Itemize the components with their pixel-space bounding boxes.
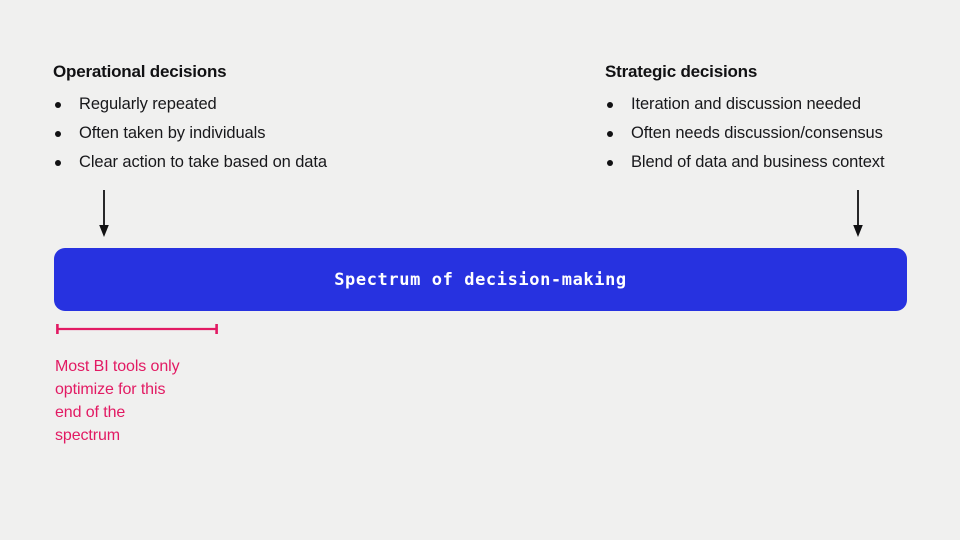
spectrum-banner-label: Spectrum of decision-making: [334, 270, 627, 290]
annotation-line: end of the: [55, 401, 255, 424]
range-bracket-icon: [56, 323, 218, 337]
list-item-label: Blend of data and business context: [631, 153, 884, 171]
bullet-icon: [607, 102, 613, 108]
list-item: Blend of data and business context: [605, 148, 945, 177]
arrow-down-icon-left: [95, 190, 113, 238]
operational-decisions-column: Operational decisions Regularly repeated…: [53, 62, 573, 177]
operational-decisions-heading: Operational decisions: [53, 62, 573, 82]
list-item: Clear action to take based on data: [53, 148, 573, 177]
annotation-line: optimize for this: [55, 378, 255, 401]
range-bracket-icon: [56, 323, 218, 337]
list-item: Often taken by individuals: [53, 119, 573, 148]
arrow-down-icon-right: [849, 190, 867, 238]
strategic-decisions-column: Strategic decisions Iteration and discus…: [605, 62, 945, 177]
list-item-label: Often taken by individuals: [79, 124, 265, 142]
bullet-icon: [607, 160, 613, 166]
annotation-line: spectrum: [55, 424, 255, 447]
bi-tools-annotation: Most BI tools only optimize for this end…: [55, 355, 255, 447]
bullet-icon: [55, 160, 61, 166]
strategic-decisions-list: Iteration and discussion needed Often ne…: [605, 90, 945, 177]
list-item: Regularly repeated: [53, 90, 573, 119]
list-item-label: Often needs discussion/consensus: [631, 124, 883, 142]
arrow-down-icon: [95, 190, 113, 238]
bullet-icon: [55, 131, 61, 137]
list-item: Iteration and discussion needed: [605, 90, 945, 119]
operational-decisions-list: Regularly repeated Often taken by indivi…: [53, 90, 573, 177]
annotation-line: Most BI tools only: [55, 355, 255, 378]
strategic-decisions-heading: Strategic decisions: [605, 62, 945, 82]
list-item-label: Clear action to take based on data: [79, 153, 327, 171]
slide-canvas: Operational decisions Regularly repeated…: [0, 0, 960, 540]
bullet-icon: [55, 102, 61, 108]
spectrum-banner: Spectrum of decision-making: [54, 248, 907, 311]
arrow-down-icon: [849, 190, 867, 238]
list-item-label: Regularly repeated: [79, 95, 217, 113]
list-item: Often needs discussion/consensus: [605, 119, 945, 148]
list-item-label: Iteration and discussion needed: [631, 95, 861, 113]
bullet-icon: [607, 131, 613, 137]
